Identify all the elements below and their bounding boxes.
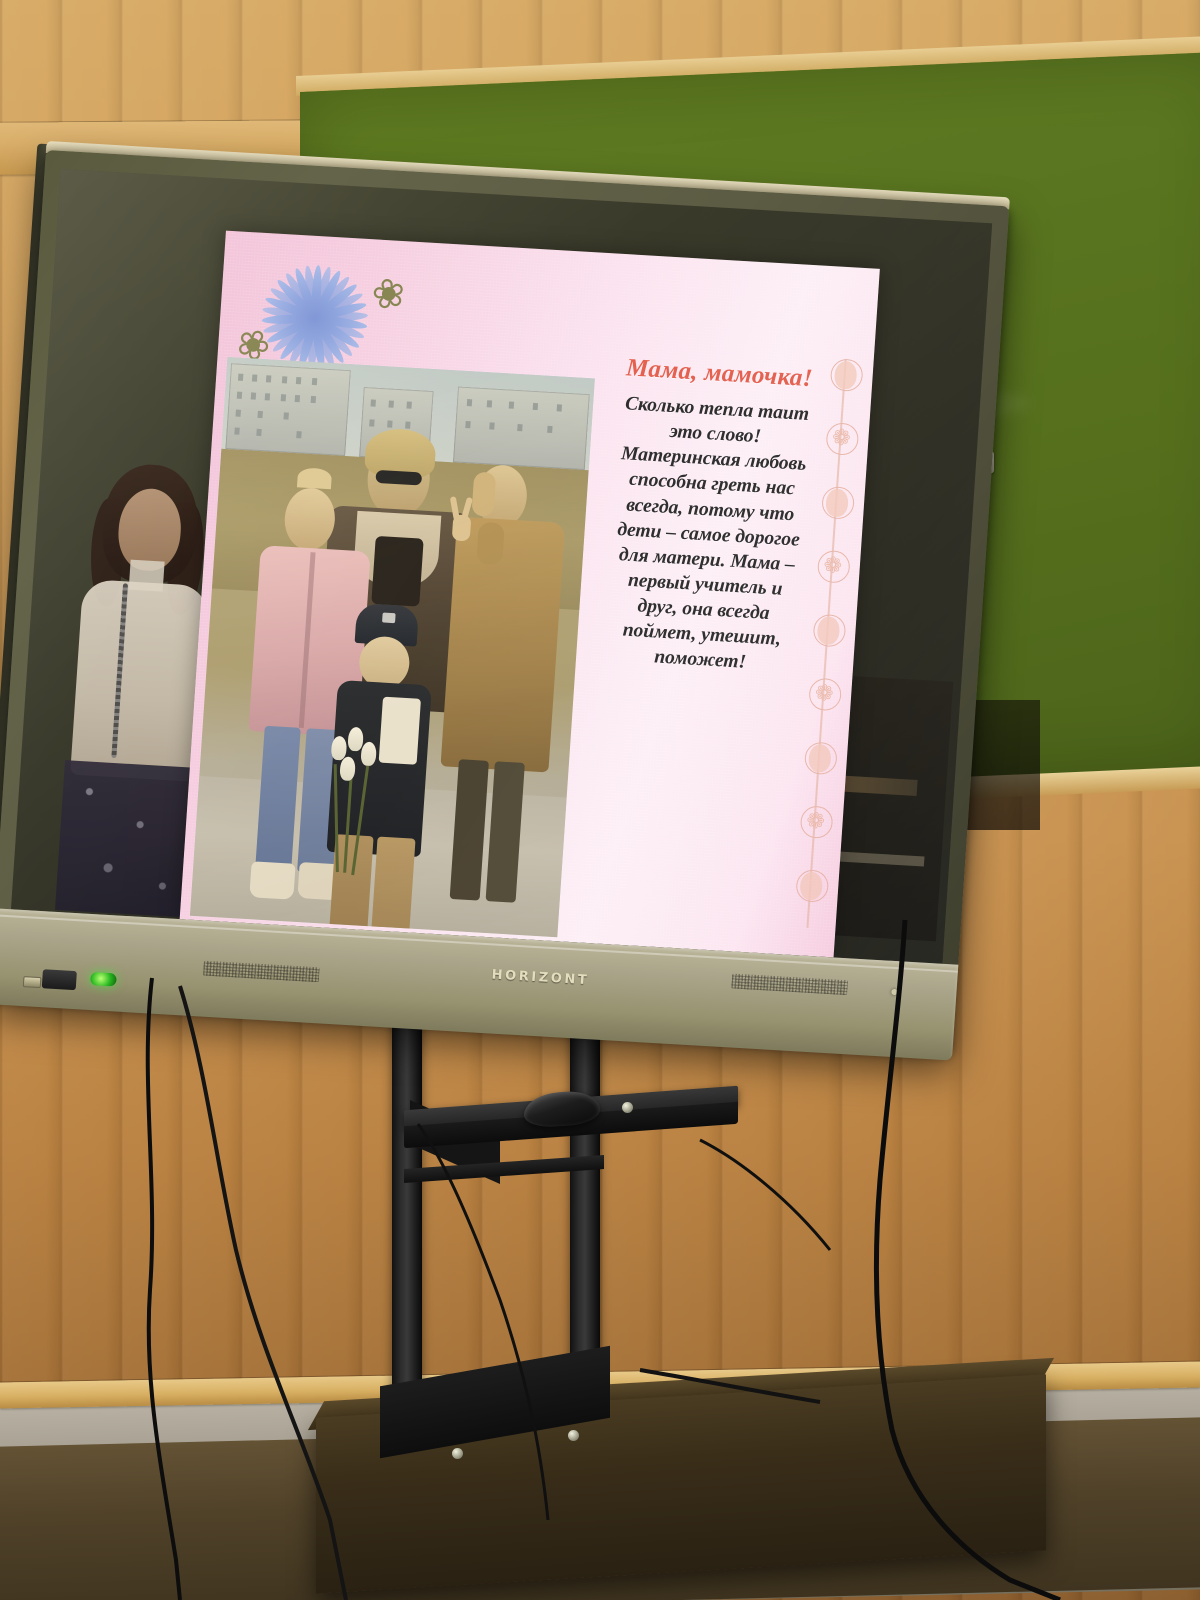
ornament-motif: ❁ xyxy=(824,424,860,452)
presentation-slide: ❀ ❀ xyxy=(180,231,880,958)
ornament-motif: ❁ xyxy=(806,679,842,707)
shelf-bolt xyxy=(622,1102,633,1113)
base-bolt-right xyxy=(568,1430,579,1441)
flourish-right-icon: ❀ xyxy=(369,272,409,317)
ornament-motif: ❁ xyxy=(815,552,851,580)
display-bezel: ❀ ❀ xyxy=(0,150,1009,1055)
slide-text-column: Мама, мамочка! Сколько тепла таитэто сло… xyxy=(586,353,835,679)
display-screen[interactable]: ❀ ❀ xyxy=(11,169,992,964)
power-led-icon xyxy=(90,972,117,986)
usb-cable-plug[interactable] xyxy=(42,969,77,990)
base-bolt-left xyxy=(452,1448,463,1459)
ornament-motif: ❁ xyxy=(798,807,834,835)
interactive-display[interactable]: ❀ ❀ xyxy=(0,150,1009,1055)
slide-body: Сколько тепла таитэто слово!Материнская … xyxy=(586,390,832,679)
usb-port-icon[interactable] xyxy=(23,976,42,988)
family-photo xyxy=(190,357,595,937)
classroom-photo-scene: ❀ ❀ xyxy=(0,0,1200,1600)
